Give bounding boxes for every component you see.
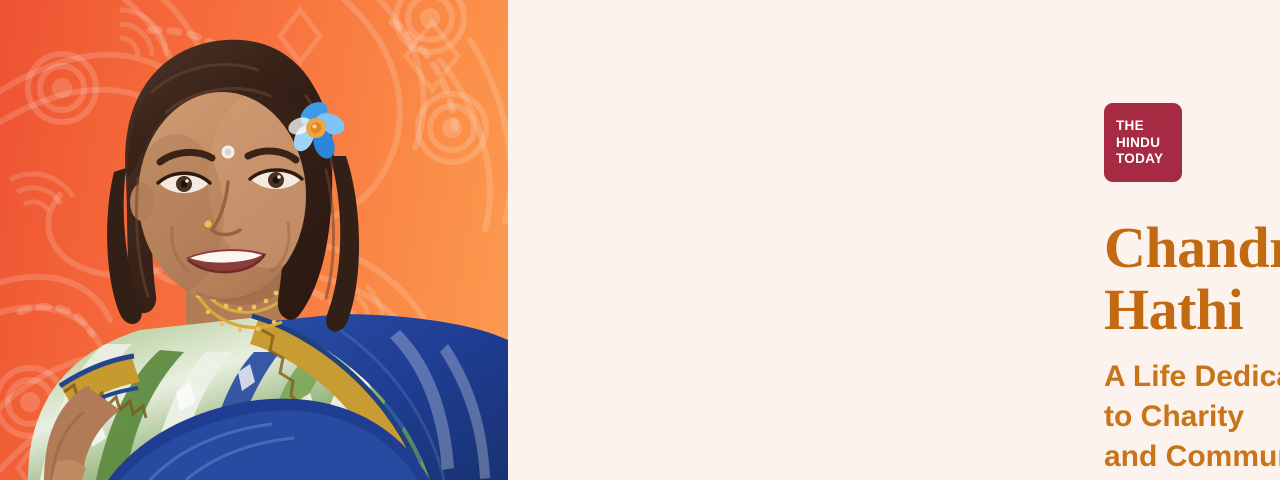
subheadline: A Life Dedicated to Charity and Communit… [1104,357,1280,477]
subheadline-line-2: and Community [1104,440,1280,473]
publication-logo-badge[interactable]: THE HINDU TODAY [1104,103,1182,182]
logo-line-today: TODAY [1116,151,1182,167]
content-panel: THE HINDU TODAY Chandrika Hathi A Life D… [508,0,1280,480]
headline-title: Chandrika Hathi [1104,217,1280,341]
logo-line-hindu: HINDU [1116,135,1182,151]
portrait-photo [0,0,508,480]
bindi-icon [222,146,235,159]
article-banner: THE HINDU TODAY Chandrika Hathi A Life D… [0,0,1280,480]
woman-portrait-illustration [0,0,508,480]
subheadline-line-1: A Life Dedicated to Charity [1104,360,1280,433]
nose-stud-icon [204,220,211,227]
photo-panel [0,0,508,480]
logo-line-the: THE [1116,118,1182,134]
